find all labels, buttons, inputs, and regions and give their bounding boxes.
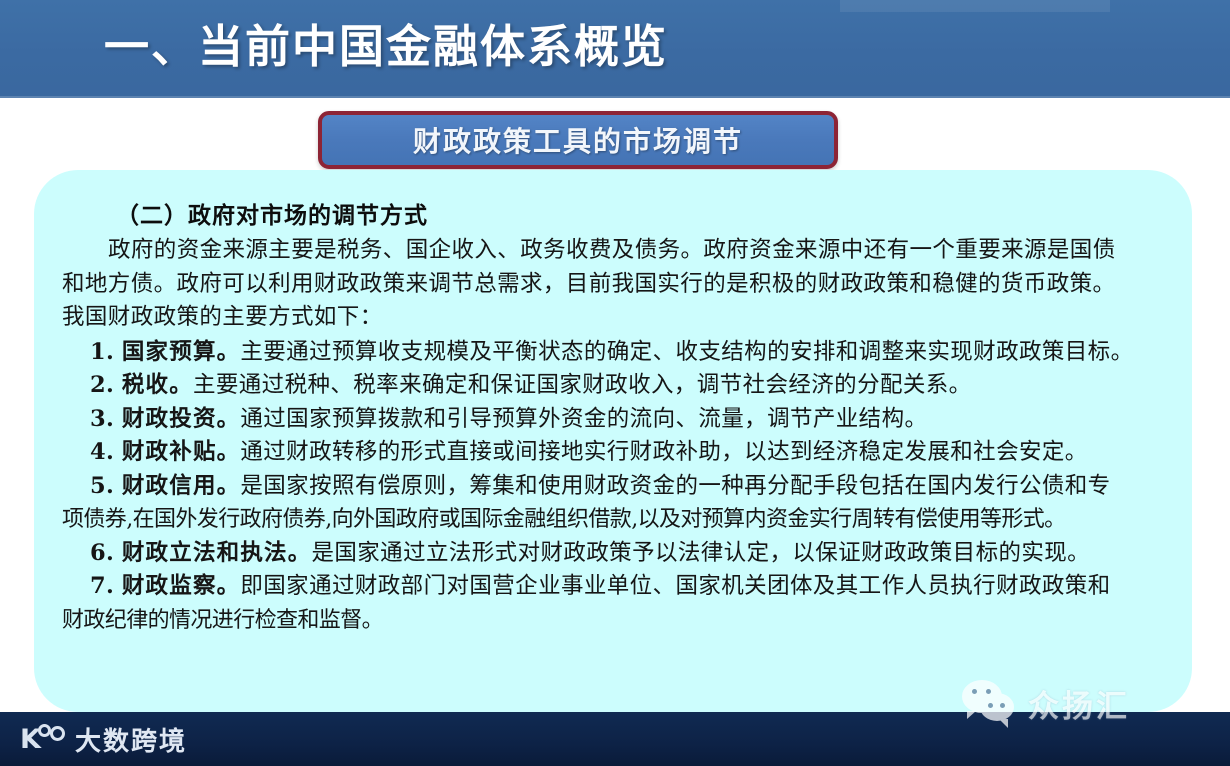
brand-mark-icon: K [20, 724, 66, 754]
list-item-term: 财政信用。 [122, 473, 241, 499]
list-item-term: 财政监察。 [122, 573, 241, 599]
list-item-number: 6. [90, 540, 114, 566]
header-sheen-decoration [840, 0, 1110, 12]
intro-paragraph: 政府的资金来源主要是税务、国企收入、政务收费及债务。政府资金来源中还有一个重要来… [56, 234, 1170, 335]
list-item: 5. 财政信用。是国家按照有偿原则，筹集和使用财政资金的一种再分配手段包括在国内… [56, 470, 1170, 504]
list-item: 2. 税收。主要通过税种、税率来确定和保证国家财政收入，调节社会经济的分配关系。 [56, 369, 1170, 403]
list-item-number: 3. [90, 406, 114, 432]
list-item-term: 财政投资。 [122, 406, 241, 432]
content-card: （二）政府对市场的调节方式 政府的资金来源主要是税务、国企收入、政务收费及债务。… [34, 170, 1192, 712]
brand-logo: K 大数跨境 [20, 716, 187, 762]
list-item-term: 国家预算。 [122, 339, 241, 365]
list-item-body: 主要通过预算收支规模及平衡状态的确定、收支结构的安排和调整来实现财政政策目标。 [240, 339, 1133, 365]
list-item: 3. 财政投资。通过国家预算拨款和引导预算外资金的流向、流量，调节产业结构。 [56, 403, 1170, 437]
subtitle-text: 财政政策工具的市场调节 [413, 120, 743, 160]
list-item: 6. 财政立法和执法。是国家通过立法形式对财政政策予以法律认定，以保证财政政策目… [56, 537, 1170, 571]
list-item: 1. 国家预算。主要通过预算收支规模及平衡状态的确定、收支结构的安排和调整来实现… [56, 336, 1170, 370]
section-heading: （二）政府对市场的调节方式 [116, 196, 1170, 230]
list-item-body: 主要通过税种、税率来确定和保证国家财政收入，调节社会经济的分配关系。 [193, 372, 972, 398]
list-item-number: 4. [90, 439, 114, 465]
page-title: 一、当前中国金融体系概览 [104, 8, 668, 86]
list-item-term: 财政补贴。 [122, 439, 241, 465]
policy-methods-list: 1. 国家预算。主要通过预算收支规模及平衡状态的确定、收支结构的安排和调整来实现… [56, 336, 1170, 638]
brand-logo-text: 大数跨境 [75, 721, 187, 758]
subtitle-badge: 财政政策工具的市场调节 [318, 111, 838, 169]
list-item: 7. 财政监察。即国家通过财政部门对国营企业事业单位、国家机关团体及其工作人员执… [56, 570, 1170, 604]
intro-line-2: 和地方债。政府可以利用财政政策来调节总需求，目前我国实行的是积极的财政政策和稳健… [56, 268, 1170, 302]
list-item-continuation: 项债券,在国外发行政府债券,向外国政府或国际金融组织借款,以及对预算内资金实行周… [56, 503, 1170, 537]
intro-line-1: 政府的资金来源主要是税务、国企收入、政务收费及债务。政府资金来源中还有一个重要来… [56, 234, 1170, 268]
list-item-term: 财政立法和执法。 [122, 540, 312, 566]
list-item-continuation: 财政纪律的情况进行检查和监督。 [56, 604, 1170, 638]
intro-line-3: 我国财政政策的主要方式如下： [56, 301, 1170, 335]
list-item-body: 是国家通过立法形式对财政政策予以法律认定，以保证财政政策目标的实现。 [311, 540, 1090, 566]
list-item-body: 通过财政转移的形式直接或间接地实行财政补助，以达到经济稳定发展和社会安定。 [240, 439, 1087, 465]
list-item-number: 2. [90, 372, 114, 398]
list-item-number: 7. [90, 573, 114, 599]
presentation-slide: 一、当前中国金融体系概览 财政政策工具的市场调节 （二）政府对市场的调节方式 政… [0, 0, 1230, 766]
list-item-body: 即国家通过财政部门对国营企业事业单位、国家机关团体及其工作人员执行财政政策和 [240, 573, 1110, 599]
list-item: 4. 财政补贴。通过财政转移的形式直接或间接地实行财政补助，以达到经济稳定发展和… [56, 436, 1170, 470]
list-item-number: 5. [90, 473, 114, 499]
list-item-number: 1. [90, 339, 114, 365]
list-item-body: 通过国家预算拨款和引导预算外资金的流向、流量，调节产业结构。 [240, 406, 927, 432]
list-item-term: 税收。 [122, 372, 193, 398]
list-item-body: 是国家按照有偿原则，筹集和使用财政资金的一种再分配手段包括在国内发行公债和专 [240, 473, 1110, 499]
